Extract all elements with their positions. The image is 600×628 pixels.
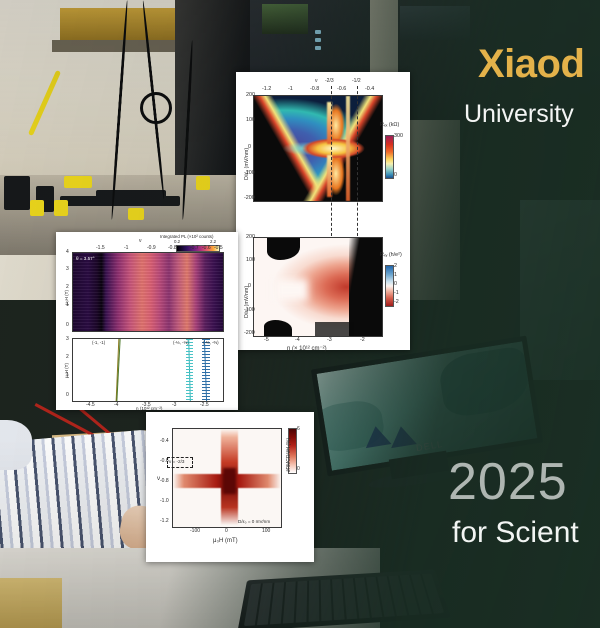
rxy-colorbar bbox=[385, 265, 394, 307]
mcd-xtick: 0 bbox=[225, 528, 228, 534]
fan-xtick: -4 bbox=[114, 402, 118, 408]
mcd-cb-min: 0 bbox=[297, 466, 300, 472]
mcd-nu-annotation: ν = -2/3 bbox=[169, 459, 184, 464]
mcd-core bbox=[223, 468, 236, 493]
rxx-colorbar-min: 0 bbox=[394, 172, 397, 178]
pl-xtick: -0.7 bbox=[190, 245, 199, 251]
rxy-mask bbox=[315, 322, 353, 336]
mcd-ylabel: ν bbox=[157, 476, 160, 482]
rxx-colorbar-label: Rₓₓ (kΩ) bbox=[380, 122, 399, 128]
rxy-ytick: 200 bbox=[246, 234, 255, 240]
nu-mark: -2/3 bbox=[325, 78, 334, 84]
pl-xtick: -1 bbox=[124, 245, 128, 251]
fan-state-label: (-⅔, -⅔) bbox=[203, 340, 219, 345]
fan-ticks bbox=[202, 339, 210, 401]
rxy-ylabel: D/ε₀ (mV/nm) bbox=[244, 286, 250, 318]
mcd-displacement-annotation: D/ε₀ = 0 mV/nm bbox=[238, 519, 270, 524]
pl-colorbar-title: Integrated PL (×10² counts) bbox=[160, 234, 213, 239]
rxy-cb-tick: -1 bbox=[394, 290, 399, 296]
rxx-ytick: -200 bbox=[244, 195, 255, 201]
rxy-xtick: -4 bbox=[295, 337, 300, 343]
fan-ticks bbox=[186, 339, 194, 401]
pl-cb-max: 2.2 bbox=[210, 239, 216, 244]
honoree-affiliation: University bbox=[464, 100, 574, 129]
mcd-xtick: -100 bbox=[190, 528, 200, 534]
rxx-xtick: -1.2 bbox=[262, 86, 271, 92]
mcd-cb-max: 6 bbox=[297, 426, 300, 432]
mcd-ytick: -0.4 bbox=[160, 438, 169, 444]
rxx-ytick: 200 bbox=[246, 92, 255, 98]
pl-xtick: -0.9 bbox=[147, 245, 156, 251]
rxy-xlabel: n (× 10¹² cm⁻²) bbox=[287, 345, 327, 352]
mcd-map-axes bbox=[172, 428, 282, 528]
fan-xtick: -2.5 bbox=[200, 402, 209, 408]
pl-ytick: 0 bbox=[66, 322, 69, 328]
rxy-cb-tick: 0 bbox=[394, 281, 397, 287]
pl-ytick: 4 bbox=[66, 249, 69, 255]
nu-symbol: ν bbox=[315, 78, 318, 84]
pl-ytick: 3 bbox=[66, 266, 69, 272]
rxy-xtick: -5 bbox=[264, 337, 269, 343]
rxx-colorbar bbox=[385, 135, 394, 179]
rxx-xtick: -0.6 bbox=[337, 86, 346, 92]
rxy-xtick: -3 bbox=[327, 337, 332, 343]
mcd-colorbar-label: ∂RMCD/∂H (%) bbox=[286, 438, 292, 472]
pl-scanline-texture bbox=[73, 253, 223, 331]
rxx-xtick: -1 bbox=[288, 86, 293, 92]
rxx-xtick: -0.8 bbox=[310, 86, 319, 92]
pl-xtick: -0.8 bbox=[168, 245, 177, 251]
rxy-colorbar-label: Rₓᵧ (h/e²) bbox=[380, 252, 402, 258]
pl-xtick: -1.5 bbox=[96, 245, 105, 251]
rxy-ytick: 100 bbox=[246, 257, 255, 263]
pl-intensity-map-axes bbox=[72, 252, 224, 332]
fan-ylabel: μ₀H (T) bbox=[64, 363, 69, 378]
pl-cb-min: 0.2 bbox=[174, 239, 180, 244]
fan-ytick: 2 bbox=[66, 354, 69, 360]
rxy-cb-tick: 1 bbox=[394, 272, 397, 278]
pl-xtick: -0.5 bbox=[214, 245, 223, 251]
pl-nu-symbol: ν bbox=[139, 238, 142, 244]
rxy-light-pocket bbox=[274, 279, 307, 301]
mcd-ytick: -0.8 bbox=[160, 478, 169, 484]
mcd-ytick: -1.2 bbox=[160, 518, 169, 524]
mcd-xlabel: μ₀H (mT) bbox=[213, 538, 238, 544]
pl-xtick: -0.6 bbox=[202, 245, 211, 251]
poster-canvas: DELL Xiaod University 2025 for Scient 20… bbox=[0, 0, 600, 628]
fan-ytick: 0 bbox=[66, 392, 69, 398]
rxy-colormap-axes bbox=[253, 237, 383, 337]
nu-guideline bbox=[331, 86, 332, 236]
rxx-colorbar-max: 300 bbox=[394, 133, 403, 139]
award-year: 2025 bbox=[448, 452, 568, 512]
fan-state-label: (-⅓, -⅓) bbox=[173, 340, 189, 345]
nu-mark: -1/2 bbox=[352, 78, 361, 84]
mcd-ytick: -1.0 bbox=[160, 498, 169, 504]
landau-fan-axes bbox=[72, 338, 224, 402]
rxy-cb-tick: 2 bbox=[394, 263, 397, 269]
rxx-field-high bbox=[254, 96, 382, 201]
fan-xtick: -4.5 bbox=[86, 402, 95, 408]
rxy-cb-tick: -2 bbox=[394, 299, 399, 305]
fan-ytick: 3 bbox=[66, 336, 69, 342]
rxx-ylabel: D/ε₀ (mV/nm) bbox=[244, 148, 250, 180]
rxx-xtick: -0.4 bbox=[365, 86, 374, 92]
rxx-colormap-axes bbox=[253, 95, 383, 202]
rxx-ytick: 100 bbox=[246, 117, 255, 123]
nu-guideline bbox=[357, 86, 358, 236]
fan-state-label: (-1, -1) bbox=[92, 340, 105, 345]
pl-ylabel: μ₀H (T) bbox=[64, 290, 69, 305]
honoree-name: Xiaod bbox=[478, 42, 584, 87]
rxy-xtick: -2 bbox=[360, 337, 365, 343]
fan-xtick: -3 bbox=[172, 402, 176, 408]
rxx-ridge bbox=[346, 96, 350, 201]
rxy-ytick: -200 bbox=[244, 330, 255, 336]
award-caption: for Scient bbox=[452, 516, 579, 550]
pl-twist-angle-annotation: θ = 3.57° bbox=[76, 256, 95, 261]
mcd-xtick: 100 bbox=[262, 528, 270, 534]
rxy-mask bbox=[264, 320, 292, 336]
